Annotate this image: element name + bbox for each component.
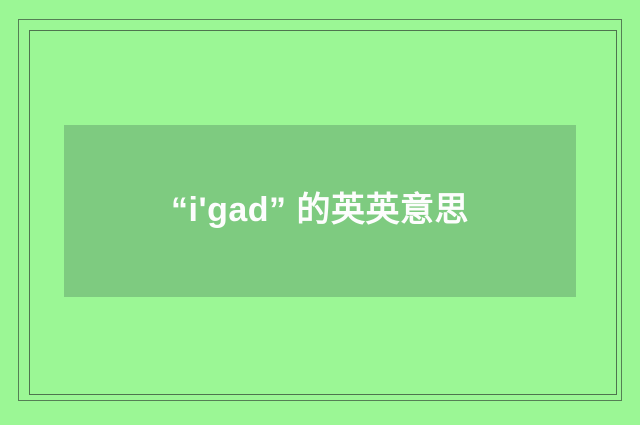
thumbnail-canvas: “i'gad” 的英英意思 bbox=[0, 0, 640, 425]
page-title: “i'gad” 的英英意思 bbox=[122, 183, 518, 238]
title-panel: “i'gad” 的英英意思 bbox=[64, 125, 576, 297]
